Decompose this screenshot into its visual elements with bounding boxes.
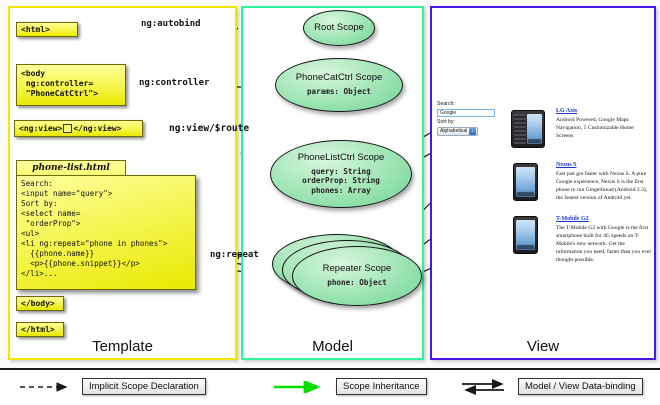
phone-list-item: T-Mobile G2 The T-Mobile G2 with Google … bbox=[556, 216, 652, 265]
green-arrow-icon bbox=[272, 381, 330, 393]
scope-phonecatctrl: PhoneCatCtrl Scope params: Object bbox=[275, 58, 403, 112]
phone-name-link[interactable]: LG Axis bbox=[556, 108, 652, 114]
ngview-open-tag: <ng:view> bbox=[19, 124, 62, 134]
double-arrow-icon bbox=[460, 379, 512, 395]
phone-name-link[interactable]: T-Mobile G2 bbox=[556, 216, 652, 222]
diagram-canvas: Template <html> <body ng:controller= "Ph… bbox=[0, 0, 660, 368]
sort-label: Sort by: bbox=[437, 119, 499, 126]
column-label-model: Model bbox=[243, 338, 422, 355]
note-title-tab: phone-list.html bbox=[16, 160, 126, 176]
phone-thumbnail-1 bbox=[511, 110, 545, 148]
search-label: Search: bbox=[437, 101, 499, 108]
ngview-close-tag: </ng:view> bbox=[73, 124, 121, 134]
code-body-close: </body> bbox=[16, 296, 64, 311]
phone-screen bbox=[516, 220, 535, 250]
phone-snippet: Android Powered, Google Maps Navigation,… bbox=[556, 116, 652, 140]
edge-label-ng-controller: ng:controller bbox=[139, 78, 209, 88]
scope-repeater-title: Repeater Scope bbox=[323, 264, 392, 275]
note-code-body: Search: <input name="query"> Sort by: <s… bbox=[16, 175, 196, 290]
edge-label-ng-autobind: ng:autobind bbox=[141, 19, 201, 29]
phone-snippet: Fast just got faster with Nexus S. A pur… bbox=[556, 170, 652, 202]
dashed-arrow-icon bbox=[18, 381, 76, 393]
legend: Implicit Scope Declaration Scope Inherit… bbox=[0, 368, 660, 405]
legend-item-scope-inheritance: Scope Inheritance bbox=[272, 378, 427, 395]
search-sort-widget: Search: Google Sort by: Alphabetical↕ bbox=[437, 101, 499, 136]
phone-thumbnail-2 bbox=[513, 163, 538, 201]
code-body-open: <body ng:controller= "PhoneCatCtrl"> bbox=[16, 64, 126, 106]
ngview-placeholder-icon bbox=[63, 124, 72, 133]
legend-label-implicit: Implicit Scope Declaration bbox=[82, 378, 206, 395]
scope-phonecatctrl-props: params: Object bbox=[307, 87, 371, 96]
phone-screen bbox=[516, 167, 535, 197]
chevron-updown-icon: ↕ bbox=[469, 128, 476, 135]
note-title: phone-list.html bbox=[17, 161, 125, 175]
sort-select-value: Alphabetical bbox=[440, 128, 467, 135]
phone-name-link[interactable]: Nexus S bbox=[556, 162, 652, 168]
scope-phonecatctrl-title: PhoneCatCtrl Scope bbox=[296, 73, 383, 84]
legend-label-databinding: Model / View Data-binding bbox=[518, 378, 643, 395]
scope-phonelistctrl-props: query: String orderProp: String phones: … bbox=[302, 167, 380, 195]
scope-phonelistctrl: PhoneListCtrl Scope query: String orderP… bbox=[270, 140, 412, 208]
scope-root-title: Root Scope bbox=[314, 23, 364, 34]
sort-select[interactable]: Alphabetical↕ bbox=[437, 127, 478, 136]
phone-snippet: The T-Mobile G2 with Google is the first… bbox=[556, 224, 652, 265]
phone-list-item: LG Axis Android Powered, Google Maps Nav… bbox=[556, 108, 652, 140]
angular-concepts-diagram: Template <html> <body ng:controller= "Ph… bbox=[0, 0, 660, 405]
phone-thumbnail-3 bbox=[513, 216, 538, 254]
scope-repeater-props: phone: Object bbox=[327, 278, 386, 287]
search-input[interactable]: Google bbox=[437, 109, 495, 117]
phone-keyboard bbox=[514, 114, 526, 144]
scope-phonelistctrl-title: PhoneListCtrl Scope bbox=[298, 153, 385, 164]
code-html-close: </html> bbox=[16, 322, 64, 337]
scope-root: Root Scope bbox=[303, 10, 375, 46]
column-label-template: Template bbox=[10, 338, 235, 355]
edge-label-ng-repeat: ng:repeat bbox=[210, 250, 259, 260]
code-ngview: <ng:view></ng:view> bbox=[14, 120, 143, 137]
legend-label-inheritance: Scope Inheritance bbox=[336, 378, 427, 395]
column-label-view: View bbox=[432, 338, 654, 355]
scope-repeater: Repeater Scope phone: Object bbox=[292, 246, 422, 306]
legend-item-implicit-scope-declaration: Implicit Scope Declaration bbox=[18, 378, 206, 395]
phone-screen bbox=[527, 114, 542, 144]
edge-label-ng-view-route: ng:view/$route bbox=[169, 123, 249, 134]
code-html-open: <html> bbox=[16, 22, 78, 37]
legend-item-data-binding: Model / View Data-binding bbox=[460, 378, 643, 395]
phone-list-item: Nexus S Fast just got faster with Nexus … bbox=[556, 162, 652, 202]
